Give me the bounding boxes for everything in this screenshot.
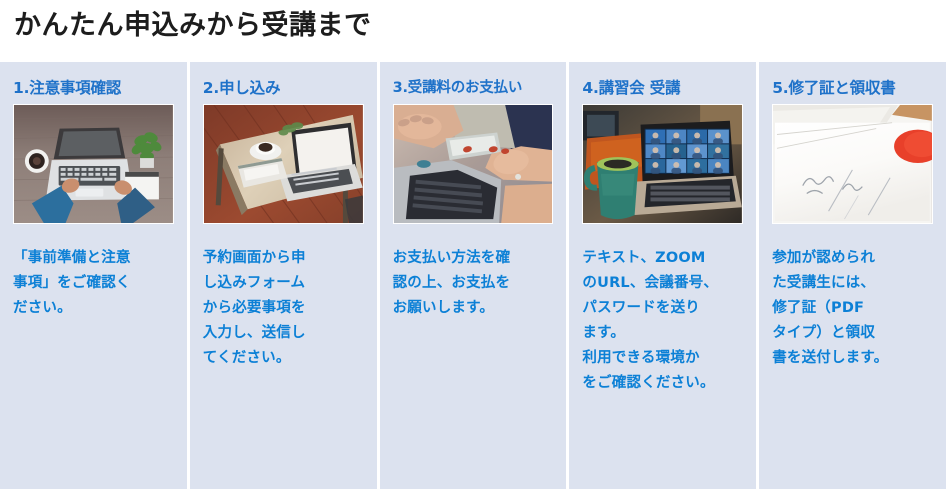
step-card-2[interactable]: 2.申し込み xyxy=(190,62,377,489)
step-2-body: 予約画面から申 し込みフォーム から必要事項を 入力し、送信し てください。 xyxy=(203,246,364,371)
step-card-1[interactable]: 1.注意事項確認 xyxy=(0,62,187,489)
step-3-heading: 3.受講料のお支払い xyxy=(393,78,554,102)
step-5-body: 参加が認められ た受講生には、 修了証（PDF タイプ）と領収 書を送付します。 xyxy=(772,246,933,371)
page-title: かんたん申込みから受講まで xyxy=(14,6,914,46)
step-1-heading: 1.注意事項確認 xyxy=(13,78,174,102)
step-4-heading: 4.講習会 受講 xyxy=(582,78,743,102)
step-card-5[interactable]: 5.修了証と領収書 xyxy=(759,62,946,489)
certificate-with-red-seal-photo xyxy=(772,104,933,224)
steps-row: 1.注意事項確認 xyxy=(0,62,946,489)
wooden-table-laptop-photo xyxy=(203,104,364,224)
desk-laptop-topdown-photo xyxy=(13,104,174,224)
step-4-body: テキスト、ZOOM のURL、会議番号、 パスワードを送り ます。 利用できる環… xyxy=(582,246,743,396)
hands-smartphone-payment-photo xyxy=(393,104,554,224)
step-2-heading: 2.申し込み xyxy=(203,78,364,102)
step-card-4[interactable]: 4.講習会 受講 xyxy=(569,62,756,489)
step-card-3[interactable]: 3.受講料のお支払い xyxy=(380,62,567,489)
zoom-meeting-laptop-photo xyxy=(582,104,743,224)
process-steps-infographic: かんたん申込みから受講まで 1.注意事項確認 xyxy=(0,0,946,493)
step-3-body: お支払い方法を確 認の上、お支払を お願いします。 xyxy=(393,246,554,321)
step-5-heading: 5.修了証と領収書 xyxy=(772,78,933,102)
step-1-body: 「事前準備と注意 事項」をご確認く ださい。 xyxy=(13,246,174,321)
